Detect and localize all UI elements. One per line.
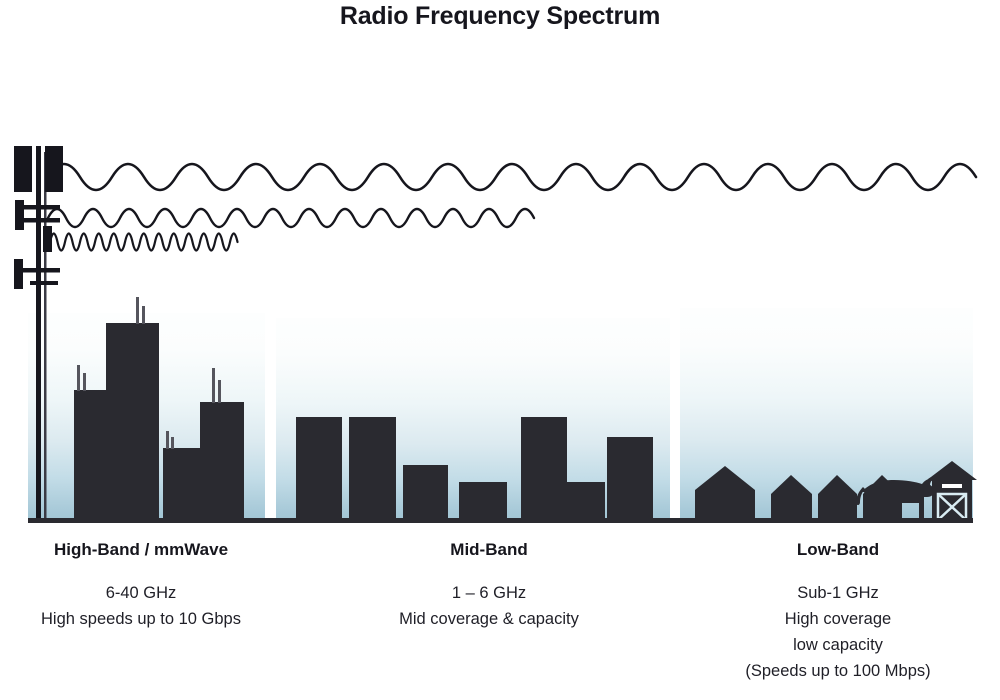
band-title: Low-Band	[688, 540, 988, 560]
cell-tower	[14, 146, 63, 521]
rural-scene-low-band	[695, 461, 977, 520]
building	[459, 482, 507, 520]
antenna-spire	[77, 365, 80, 391]
building	[607, 437, 653, 520]
house	[818, 475, 857, 520]
band-frequency: Sub-1 GHz	[688, 580, 988, 606]
antenna-spire	[212, 368, 215, 403]
band-description: High coverage	[688, 606, 988, 632]
city-skyline-high-band	[74, 297, 244, 520]
antenna-spire	[142, 306, 145, 324]
antenna-spire	[218, 380, 221, 403]
band-frequency: 6-40 GHz	[0, 580, 282, 606]
tower-crossbar	[22, 218, 60, 223]
tower-crossbar	[22, 205, 60, 210]
building	[200, 402, 244, 520]
building	[163, 448, 201, 520]
barn-loft-window	[942, 484, 962, 488]
wave-low-band	[48, 164, 976, 190]
infographic-canvas: Radio Frequency Spectrum	[0, 0, 1000, 700]
antenna-spire	[83, 373, 86, 391]
band-labels: High-Band / mmWave 6-40 GHz High speeds …	[0, 540, 1000, 700]
building	[106, 323, 159, 520]
antenna-panel	[43, 226, 52, 252]
band-title: High-Band / mmWave	[0, 540, 282, 560]
wave-high-band	[50, 234, 238, 251]
antenna-spire	[166, 431, 169, 449]
scene-artwork	[0, 0, 1000, 540]
building	[403, 465, 448, 520]
band-description: low capacity	[688, 632, 988, 658]
band-description: High speeds up to 10 Gbps	[0, 606, 282, 632]
building	[565, 482, 605, 520]
spectrum-scene	[0, 0, 1000, 540]
antenna-panel	[15, 200, 24, 230]
tower-crossbar	[22, 268, 60, 273]
band-label-low-band: Low-Band Sub-1 GHz High coverage low cap…	[688, 540, 988, 684]
band-label-high-band: High-Band / mmWave 6-40 GHz High speeds …	[0, 540, 282, 632]
city-skyline-mid-band	[296, 417, 653, 520]
building	[296, 417, 342, 520]
barn-body	[927, 461, 977, 520]
band-frequency: 1 – 6 GHz	[340, 580, 638, 606]
antenna-panel	[14, 259, 23, 289]
radio-waves	[48, 164, 976, 251]
antenna-panel	[45, 146, 63, 192]
band-description: Mid coverage & capacity	[340, 606, 638, 632]
barn	[927, 461, 977, 520]
wave-mid-band	[48, 209, 534, 227]
band-title: Mid-Band	[340, 540, 638, 560]
band-speed: (Speeds up to 100 Mbps)	[688, 658, 988, 684]
antenna-spire	[136, 297, 139, 324]
building	[521, 417, 567, 520]
band-label-mid-band: Mid-Band 1 – 6 GHz Mid coverage & capaci…	[340, 540, 638, 632]
house	[771, 475, 812, 520]
antenna-panel	[14, 146, 32, 192]
tower-crossbar	[30, 281, 58, 285]
antenna-spire	[171, 437, 174, 449]
ground-baseline	[28, 518, 973, 523]
house	[695, 466, 755, 520]
building	[349, 417, 396, 520]
tower-mast	[36, 146, 41, 521]
